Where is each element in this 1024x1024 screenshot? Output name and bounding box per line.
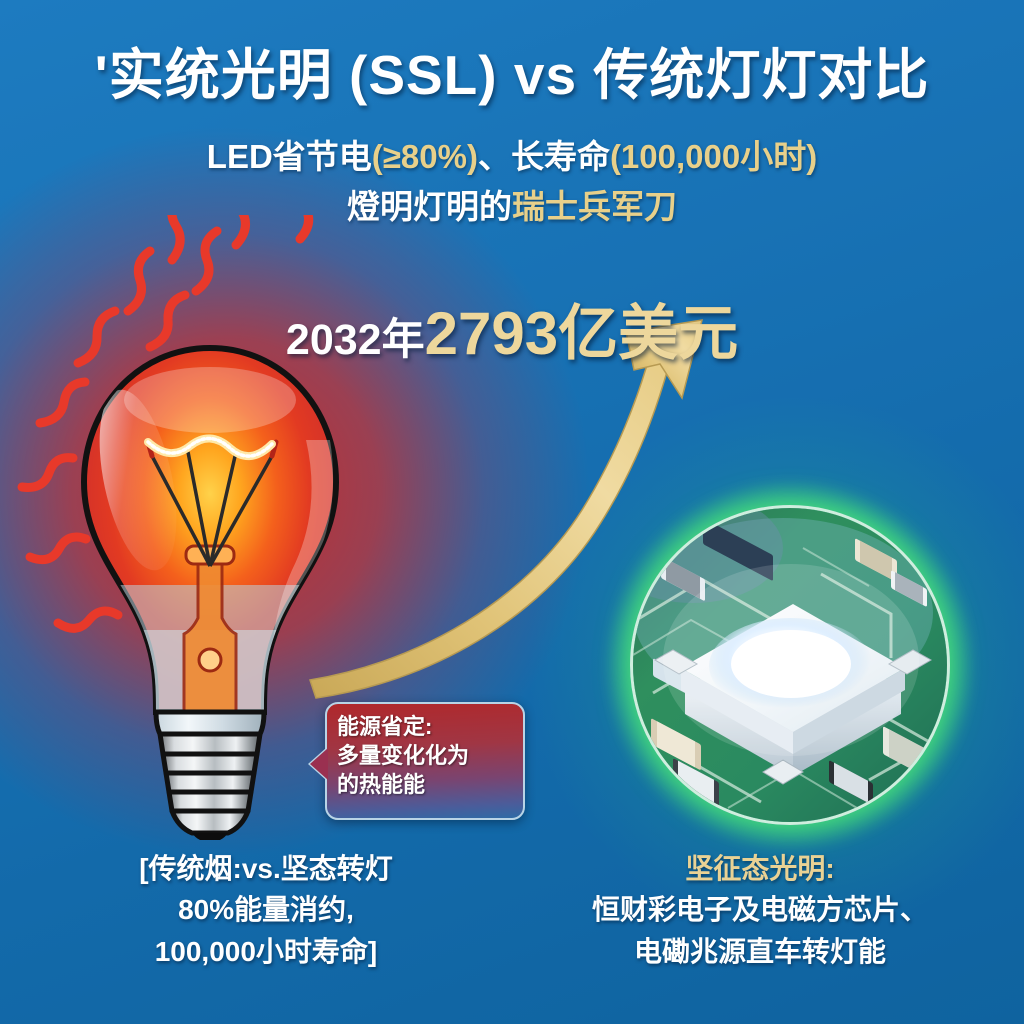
callout-line-1: 能源省定: (337, 712, 515, 741)
subtitle-line-2: 燈明灯明的瑞士兵军刀 (0, 180, 1024, 228)
left-panel-caption: [传统烟:vs.坚态转灯 80%能量消约, 100,000小时寿命] (26, 848, 506, 972)
led-chip-circle (630, 505, 950, 825)
left-caption-line-2: 80%能量消约, (26, 889, 506, 930)
right-caption-line-1: 坚征态光明: (510, 848, 1010, 889)
subtitle-seg-6: 瑞士兵军刀 (512, 188, 677, 225)
subtitle-seg-4: (100,000小时) (610, 138, 817, 175)
left-caption-line-1: [传统烟:vs.坚态转灯 (26, 848, 506, 889)
page-title: '实统光明 (SSL) vs 传统灯灯对比 (0, 30, 1024, 110)
market-stat: 2032年2793亿美元 (0, 285, 1024, 372)
stat-value-label: 2793亿美元 (425, 300, 738, 367)
subtitle-seg-1: LED省节电 (207, 138, 372, 175)
callout-line-3: 的热能能 (337, 770, 515, 799)
right-panel-caption: 坚征态光明: 恒财彩电子及电磁方芯片、 电磡兆源直车转灯能 (510, 848, 1010, 972)
callout-text: 能源省定: 多量变化化为 的热能能 (337, 712, 515, 799)
infographic-canvas: 能源省定: 多量变化化为 的热能能 '实统光明 (SSL) vs 传统灯灯对比 … (0, 0, 1024, 1024)
callout-line-2: 多量变化化为 (337, 741, 515, 770)
subtitle-seg-5: 燈明灯明的 (347, 188, 512, 225)
subtitle-seg-2: (≥80%) (372, 138, 478, 175)
stat-year-label: 2032年 (286, 316, 425, 364)
callout-pointer-icon (310, 748, 328, 780)
led-chip-photo-icon (633, 508, 950, 825)
left-caption-line-3: 100,000小时寿命] (26, 931, 506, 972)
subtitle-line-1: LED省节电(≥80%)、长寿命(100,000小时) (0, 130, 1024, 178)
right-caption-line-2: 恒财彩电子及电磁方芯片、 (510, 889, 1010, 930)
led-chip-photo (630, 505, 950, 825)
subtitle-seg-3: 、长寿命 (478, 138, 610, 175)
right-caption-line-3: 电磡兆源直车转灯能 (510, 931, 1010, 972)
energy-waste-callout: 能源省定: 多量变化化为 的热能能 (325, 702, 525, 820)
